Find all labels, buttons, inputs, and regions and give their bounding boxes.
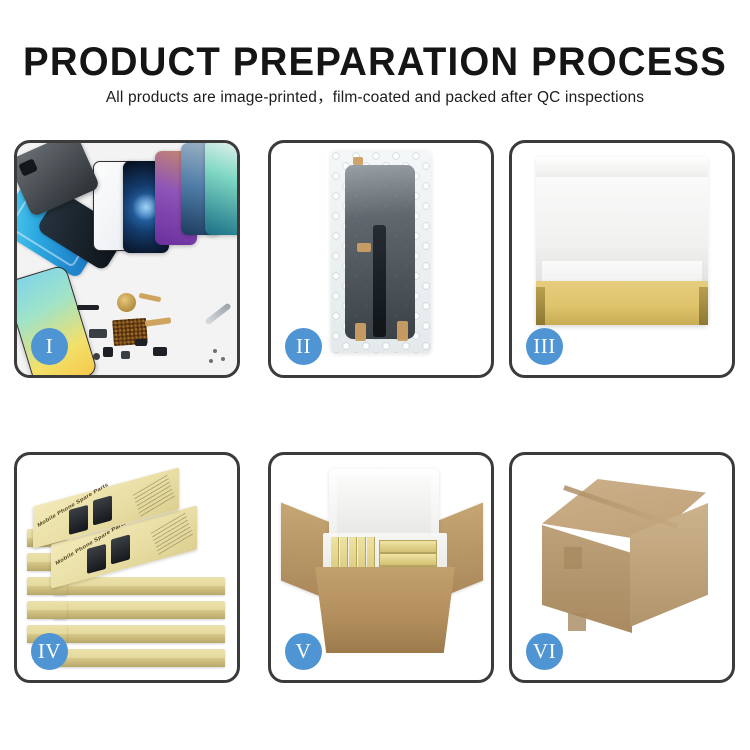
panel-step-5: V xyxy=(268,452,494,683)
tape-graphic xyxy=(353,157,363,165)
carton-tape-graphic xyxy=(564,547,582,569)
chip-graphic xyxy=(135,339,147,346)
teal-phone-graphic xyxy=(205,143,237,235)
carton-front-face-graphic xyxy=(542,525,632,633)
process-panel-grid: I II III xyxy=(0,0,750,750)
bubble-wrap-bag-graphic xyxy=(331,151,431,353)
chip-graphic xyxy=(77,305,99,310)
panel-step-6: VI xyxy=(509,452,735,683)
box-graphic xyxy=(53,601,225,619)
speaker-coil-graphic xyxy=(117,293,136,312)
tape-graphic xyxy=(357,243,371,252)
screw-graphic xyxy=(209,359,213,363)
box-flap-right-graphic xyxy=(699,287,708,325)
tape-graphic xyxy=(397,321,408,341)
chip-graphic xyxy=(121,351,130,359)
carton-body-graphic xyxy=(315,567,455,653)
flex-cable-inside-bag-graphic xyxy=(373,225,386,337)
flex-cable-graphic xyxy=(145,317,172,327)
box-graphic xyxy=(53,625,225,643)
panel-step-2: II xyxy=(268,140,494,378)
chip-graphic xyxy=(103,347,113,357)
box-graphic xyxy=(53,649,225,667)
button-graphic xyxy=(93,353,100,360)
screw-graphic xyxy=(221,357,225,361)
panel-badge-3: III xyxy=(526,328,563,365)
chip-graphic xyxy=(89,329,107,338)
panel-step-4: Mobile Phone Spare Parts Mobile Phone Sp… xyxy=(14,452,240,683)
carton-tape-graphic xyxy=(568,613,586,631)
panel-step-1: I xyxy=(14,140,240,378)
tape-graphic xyxy=(355,323,366,341)
panel-badge-1: I xyxy=(31,328,68,365)
flex-cable-graphic xyxy=(139,293,162,302)
kraft-box-body-graphic xyxy=(536,281,708,325)
screw-graphic xyxy=(213,349,217,353)
foam-lid-graphic xyxy=(329,469,439,541)
panel-badge-6: VI xyxy=(526,633,563,670)
panel-badge-4: IV xyxy=(31,633,68,670)
box-graphic xyxy=(27,601,67,619)
box-flap-left-graphic xyxy=(536,287,545,325)
panel-badge-5: V xyxy=(285,633,322,670)
panel-step-3: III xyxy=(509,140,735,378)
tweezers-graphic xyxy=(204,302,231,325)
panel-badge-2: II xyxy=(285,328,322,365)
camera-module-graphic xyxy=(153,347,167,356)
